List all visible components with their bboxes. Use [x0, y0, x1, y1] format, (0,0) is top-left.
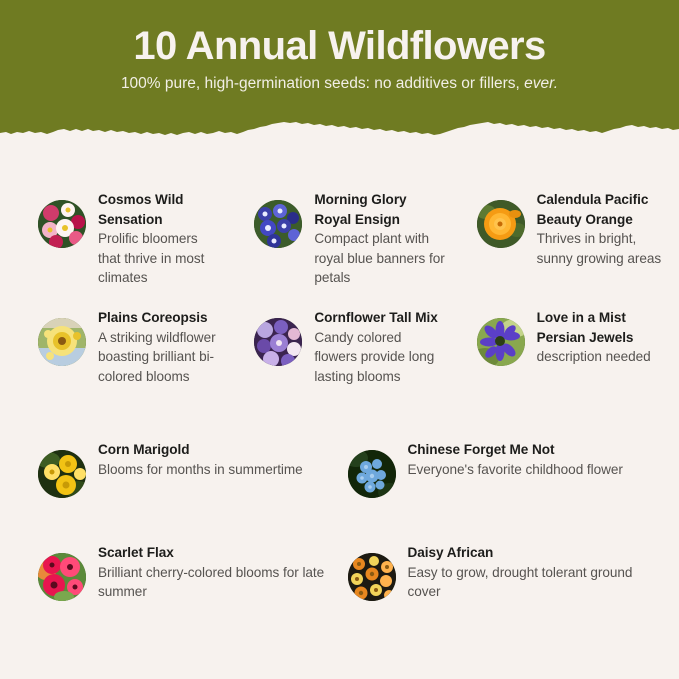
item-text-block: Cosmos Wild Sensation Prolific bloomers …	[98, 190, 220, 288]
love-in-a-mist-flower-thumbnail	[477, 318, 525, 366]
item-description: A striking wildflower boasting brilliant…	[98, 328, 220, 387]
list-item[interactable]: Calendula Pacific Beauty Orange Thrives …	[453, 190, 679, 288]
flower-row-2: Plains Coreopsis A striking wildflower b…	[0, 308, 679, 386]
torn-paper-edge-divider	[0, 115, 679, 144]
calendula-flower-thumbnail	[477, 200, 525, 248]
african-daisy-flower-thumbnail	[348, 553, 396, 601]
item-name: Cornflower Tall Mix	[314, 308, 446, 328]
list-item[interactable]: Love in a Mist Persian Jewels descriptio…	[453, 308, 679, 386]
list-item[interactable]: Chinese Forget Me Not Everyone's favorit…	[340, 440, 679, 498]
item-text-block: Calendula Pacific Beauty Orange Thrives …	[537, 190, 673, 268]
item-name: Chinese Forget Me Not	[408, 440, 623, 460]
cosmos-flower-thumbnail	[38, 200, 86, 248]
page-header: 10 Annual Wildflowers 100% pure, high-ge…	[0, 0, 679, 144]
list-item[interactable]: Cornflower Tall Mix Candy colored flower…	[226, 308, 452, 386]
morning-glory-flower-thumbnail	[254, 200, 302, 248]
item-description: Everyone's favorite childhood flower	[408, 460, 623, 480]
list-item[interactable]: Daisy African Easy to grow, drought tole…	[340, 543, 679, 602]
scarlet-flax-flower-thumbnail	[38, 553, 86, 601]
corn-marigold-flower-thumbnail	[38, 450, 86, 498]
item-name: Calendula Pacific Beauty Orange	[537, 190, 673, 229]
header-text-block: 10 Annual Wildflowers 100% pure, high-ge…	[0, 0, 679, 95]
item-name: Scarlet Flax	[98, 543, 328, 563]
cornflower-flower-thumbnail	[254, 318, 302, 366]
item-text-block: Scarlet Flax Brilliant cherry-colored bl…	[98, 543, 328, 602]
item-text-block: Love in a Mist Persian Jewels descriptio…	[537, 308, 673, 367]
item-text-block: Chinese Forget Me Not Everyone's favorit…	[408, 440, 623, 479]
coreopsis-flower-thumbnail	[38, 318, 86, 366]
flower-row-3: Corn Marigold Blooms for months in summe…	[0, 440, 679, 498]
item-name: Plains Coreopsis	[98, 308, 220, 328]
flower-list: Cosmos Wild Sensation Prolific bloomers …	[0, 144, 679, 679]
subtitle-main-text: 100% pure, high-germination seeds: no ad…	[121, 75, 524, 92]
forget-me-not-flower-thumbnail	[348, 450, 396, 498]
page-title: 10 Annual Wildflowers	[0, 22, 679, 70]
item-name: Cosmos Wild Sensation	[98, 190, 220, 229]
item-text-block: Plains Coreopsis A striking wildflower b…	[98, 308, 220, 386]
item-description: description needed	[537, 347, 673, 367]
item-name: Morning Glory Royal Ensign	[314, 190, 446, 229]
item-text-block: Morning Glory Royal Ensign Compact plant…	[314, 190, 446, 288]
list-item[interactable]: Corn Marigold Blooms for months in summe…	[0, 440, 340, 498]
subtitle-emphasis-text: ever.	[524, 75, 558, 92]
list-item[interactable]: Scarlet Flax Brilliant cherry-colored bl…	[0, 543, 340, 602]
list-item[interactable]: Plains Coreopsis A striking wildflower b…	[0, 308, 226, 386]
flower-row-4: Scarlet Flax Brilliant cherry-colored bl…	[0, 543, 679, 602]
list-item[interactable]: Cosmos Wild Sensation Prolific bloomers …	[0, 190, 226, 288]
list-item[interactable]: Morning Glory Royal Ensign Compact plant…	[226, 190, 452, 288]
flower-row-1: Cosmos Wild Sensation Prolific bloomers …	[0, 190, 679, 288]
item-name: Daisy African	[408, 543, 638, 563]
item-text-block: Corn Marigold Blooms for months in summe…	[98, 440, 303, 479]
item-description: Compact plant with royal blue banners fo…	[314, 229, 446, 288]
item-name: Love in a Mist Persian Jewels	[537, 308, 673, 347]
item-description: Candy colored flowers provide long lasti…	[314, 328, 446, 387]
item-text-block: Daisy African Easy to grow, drought tole…	[408, 543, 638, 602]
item-text-block: Cornflower Tall Mix Candy colored flower…	[314, 308, 446, 386]
page-subtitle: 100% pure, high-germination seeds: no ad…	[0, 73, 679, 95]
item-description: Thrives in bright, sunny growing areas	[537, 229, 673, 268]
item-description: Brilliant cherry-colored blooms for late…	[98, 563, 328, 602]
item-name: Corn Marigold	[98, 440, 303, 460]
item-description: Blooms for months in summertime	[98, 460, 303, 480]
item-description: Easy to grow, drought tolerant ground co…	[408, 563, 638, 602]
infographic-page: 10 Annual Wildflowers 100% pure, high-ge…	[0, 0, 679, 679]
item-description: Prolific bloomers that thrive in most cl…	[98, 229, 220, 288]
